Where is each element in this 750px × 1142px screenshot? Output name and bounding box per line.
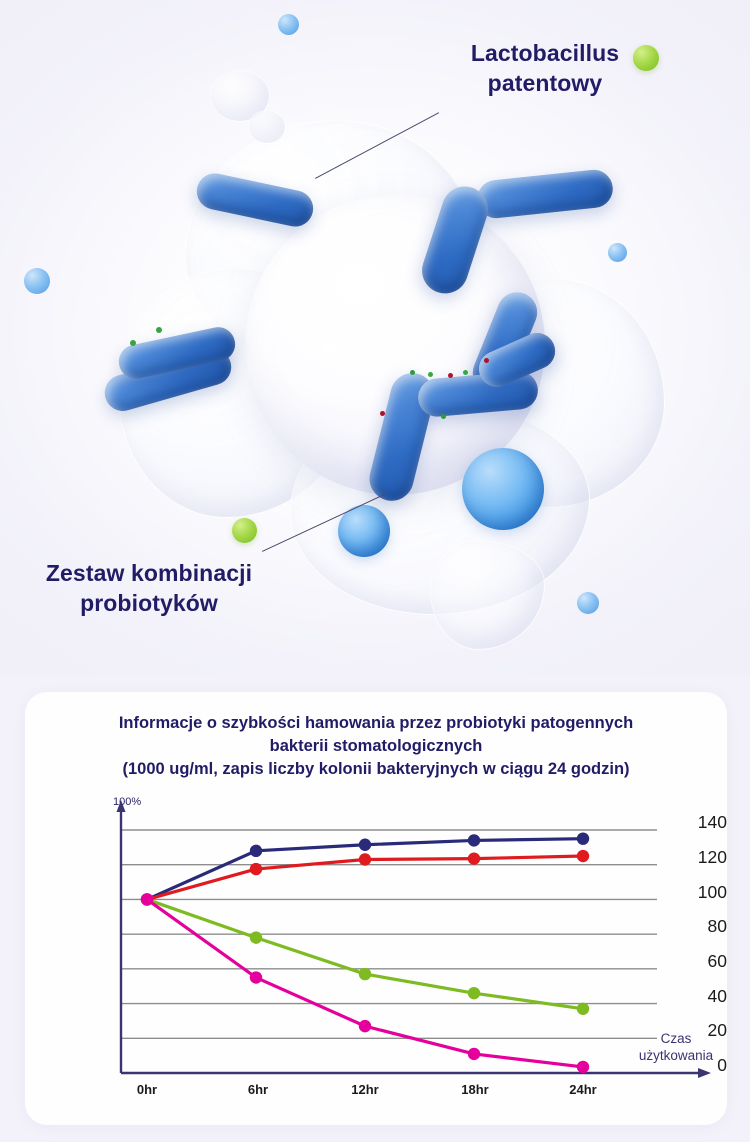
- callout-lactobacillus: Lactobacillus patentowy: [430, 38, 660, 98]
- chart-point-series-green-18hr: [468, 987, 480, 999]
- chart-point-series-magenta-18hr: [468, 1048, 480, 1060]
- chart-point-series-magenta-6hr: [250, 971, 262, 983]
- micro-dot-green-4: [441, 414, 446, 419]
- chart-point-series-magenta-12hr: [359, 1020, 371, 1032]
- chart-point-series-navy-18hr: [468, 834, 480, 846]
- chart-series: [141, 832, 589, 1073]
- micro-dot-green-3: [463, 370, 468, 375]
- chart-point-series-magenta-24hr: [577, 1061, 589, 1073]
- chart-point-series-green-6hr: [250, 931, 262, 943]
- bacterium-rod-top-right: [475, 168, 614, 220]
- micro-dot-green-1: [410, 370, 415, 375]
- callout-probiotic-set: Zestaw kombinacji probiotyków: [18, 558, 280, 618]
- product-infographic-page: Lactobacillus patentowy Zestaw kombinacj…: [0, 0, 750, 1142]
- chart-point-series-red-24hr: [577, 850, 589, 862]
- floating-dot-top: [278, 14, 299, 35]
- micro-dot-green-5: [130, 340, 136, 346]
- hero-illustration: Lactobacillus patentowy Zestaw kombinacj…: [0, 0, 750, 676]
- line-chart-plot: [25, 692, 727, 1125]
- chart-point-series-red-12hr: [359, 853, 371, 865]
- core-highlight-2: [385, 330, 394, 339]
- micro-dot-red-2: [484, 358, 489, 363]
- floating-dot-right: [608, 243, 627, 262]
- micro-dot-green-2: [428, 372, 433, 377]
- bacteria-colony-sphere-large: [462, 448, 544, 530]
- core-highlight-1: [322, 340, 338, 356]
- glass-droplet-top: [248, 110, 286, 144]
- chart-point-series-magenta-0hr: [141, 893, 153, 905]
- chart-point-series-red-18hr: [468, 852, 480, 864]
- chart-point-series-navy-6hr: [250, 845, 262, 857]
- micro-dot-red-3: [380, 411, 385, 416]
- floating-dot-bottom-right: [577, 592, 599, 614]
- chart-line-series-green: [147, 899, 583, 1008]
- micro-dot-red-1: [448, 373, 453, 378]
- chart-line-series-magenta: [147, 899, 583, 1066]
- accent-dot-bottom-left: [232, 518, 257, 543]
- chart-point-series-red-6hr: [250, 863, 262, 875]
- micro-dot-green-6: [156, 327, 162, 333]
- glass-droplet-tail: [430, 540, 545, 650]
- chart-card: Informacje o szybkości hamowania przez p…: [25, 692, 727, 1125]
- chart-point-series-green-24hr: [577, 1003, 589, 1015]
- chart-point-series-green-12hr: [359, 968, 371, 980]
- chart-point-series-navy-24hr: [577, 832, 589, 844]
- core-highlight-4: [293, 300, 315, 310]
- chart-point-series-navy-12hr: [359, 839, 371, 851]
- floating-dot-left: [24, 268, 50, 294]
